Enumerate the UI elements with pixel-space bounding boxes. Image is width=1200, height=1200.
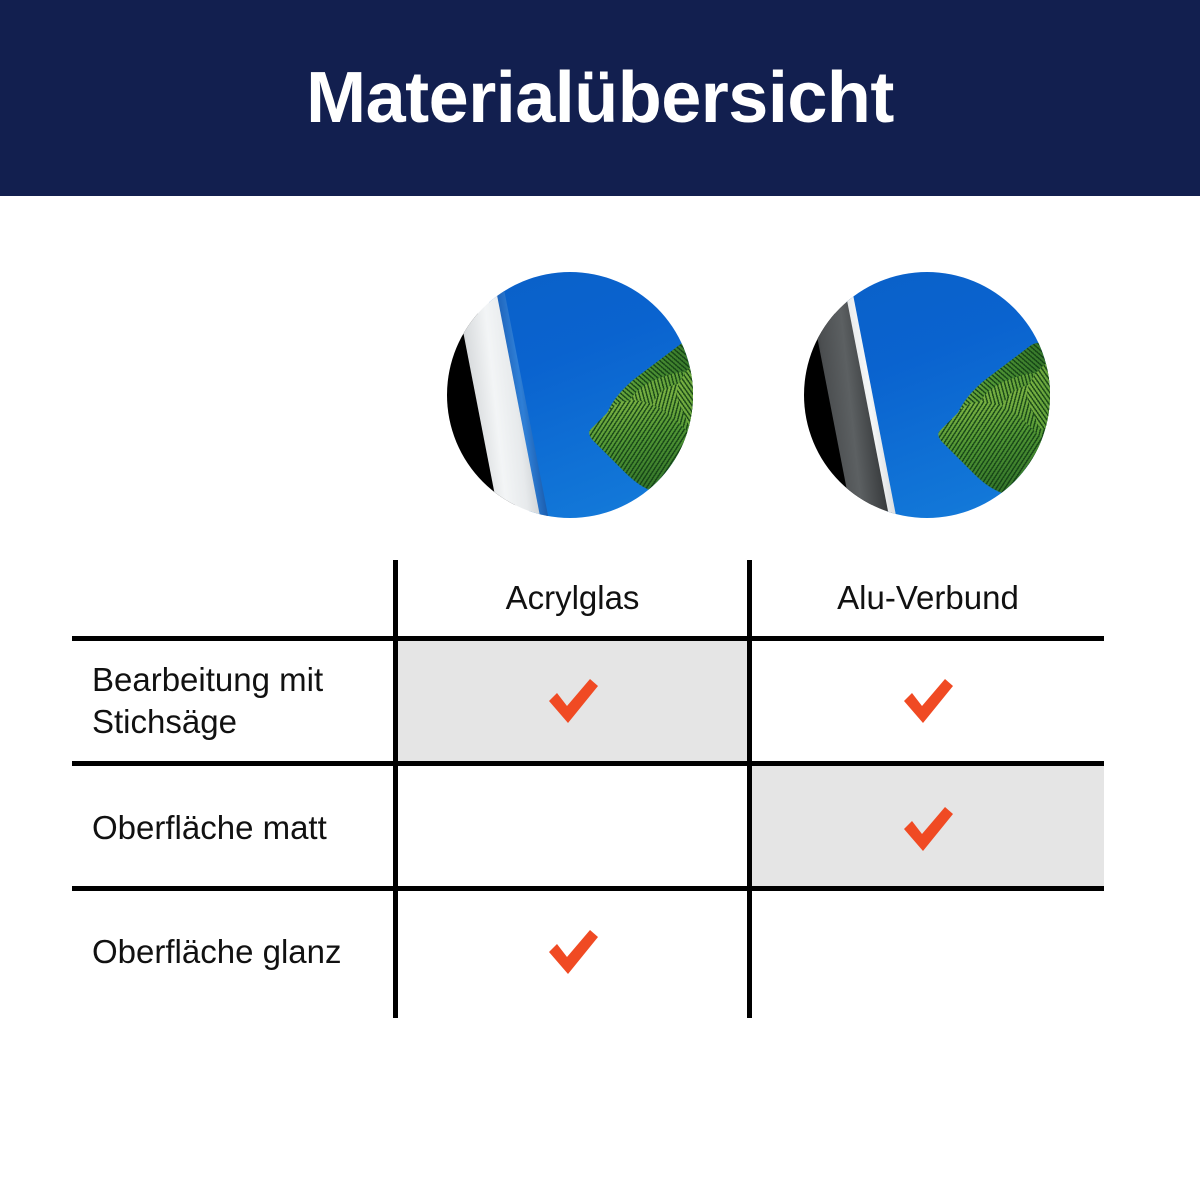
table-cell-alu-verbund-matt: [752, 766, 1104, 891]
table-cell-alu-verbund-stichsaege: [752, 641, 1104, 761]
page-title: Materialübersicht: [306, 62, 894, 134]
table-row-label-oberflaeche-matt: Oberfläche matt: [92, 766, 387, 891]
table-column-header-acrylglas: Acrylglas: [398, 565, 747, 631]
table-column-header-alu-verbund: Alu-Verbund: [752, 565, 1104, 631]
table-cell-acrylglas-stichsaege: [398, 641, 747, 761]
material-overview-page: Materialübersicht: [0, 0, 1200, 1200]
table-row-label-oberflaeche-glanz: Oberfläche glanz: [92, 891, 387, 1013]
check-icon: [542, 675, 604, 727]
alu-verbund-scene: [804, 272, 1050, 518]
row-label-line: Stichsäge: [92, 703, 237, 740]
acrylglas-thumbnail: [447, 272, 693, 518]
table-row-label-stichsaege: Bearbeitung mit Stichsäge: [92, 641, 387, 761]
row-label-line: Bearbeitung mit: [92, 661, 323, 698]
check-icon: [897, 675, 959, 727]
material-comparison-table: Acrylglas Alu-Verbund Bearbeitung mit St…: [72, 555, 1104, 1015]
acrylglas-scene: [447, 272, 693, 518]
alu-verbund-thumbnail: [804, 272, 1050, 518]
check-icon: [897, 803, 959, 855]
check-icon: [542, 926, 604, 978]
table-cell-acrylglas-glanz: [398, 891, 747, 1013]
header-banner: Materialübersicht: [0, 0, 1200, 196]
